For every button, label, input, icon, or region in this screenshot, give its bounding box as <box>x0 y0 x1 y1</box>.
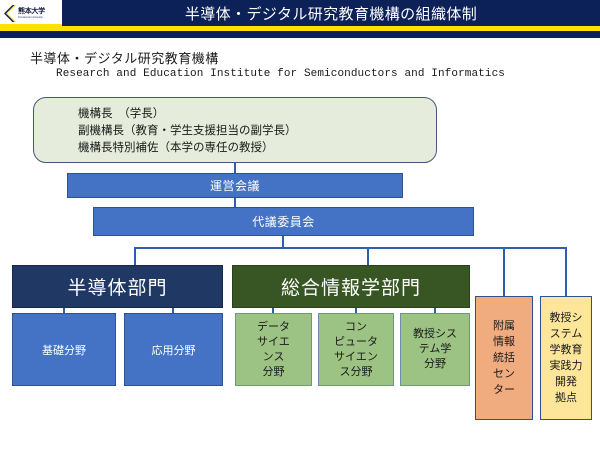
division-header-semiconductor[interactable]: 半導体部門 <box>12 265 223 308</box>
center-box-information-center[interactable]: 附属情報統括センター <box>475 296 533 420</box>
division-header-informatics[interactable]: 総合情報学部門 <box>232 265 470 308</box>
page-title: 半導体・デジタル研究教育機構の組織体制 <box>62 0 600 26</box>
committee-box-unei[interactable]: 運営会議 <box>67 173 403 198</box>
committee-box-daigi[interactable]: 代議委員会 <box>93 207 474 236</box>
institute-name-en: Research and Education Institute for Sem… <box>56 68 505 80</box>
field-box-data-science[interactable]: データサイエンス分野 <box>235 313 312 386</box>
connector-drop-center <box>503 247 505 296</box>
chevron-left-mark-icon <box>3 5 16 22</box>
connector-drop-base <box>565 247 567 296</box>
slide-canvas: 熊本大学 Kumamoto University 半導体・デジタル研究教育機構の… <box>0 0 600 450</box>
logo-jp-label: 熊本大学 <box>18 8 45 15</box>
connector-unei-to-daigi <box>234 198 236 207</box>
connector-horizontal-bus <box>134 247 566 249</box>
field-box-computer-science[interactable]: コンピュータサイエンス分野 <box>318 313 394 386</box>
field-box-basic[interactable]: 基礎分野 <box>12 313 116 386</box>
field-box-applied[interactable]: 応用分野 <box>124 313 223 386</box>
logo-text-block: 熊本大学 Kumamoto University <box>18 8 45 19</box>
field-box-instructional-systems[interactable]: 教授システム学分野 <box>400 313 470 386</box>
connector-drop-informatics <box>367 247 369 265</box>
leadership-box: 機構長 （学長）副機構長（教育・学生支援担当の副学長）機構長特別補佐（本学の専任… <box>33 97 437 163</box>
university-logo: 熊本大学 Kumamoto University <box>0 0 62 26</box>
center-box-development-base[interactable]: 教授システム学教育実践力開発拠点 <box>540 296 592 420</box>
logo-en-label: Kumamoto University <box>18 15 45 18</box>
leadership-lines: 機構長 （学長）副機構長（教育・学生支援担当の副学長）機構長特別補佐（本学の専任… <box>78 106 297 157</box>
institute-name-jp: 半導体・デジタル研究教育機構 <box>30 48 219 67</box>
header-stripe-navy <box>0 31 600 38</box>
connector-drop-semiconductor <box>134 247 136 265</box>
connector-leadership-to-unei <box>234 163 236 173</box>
